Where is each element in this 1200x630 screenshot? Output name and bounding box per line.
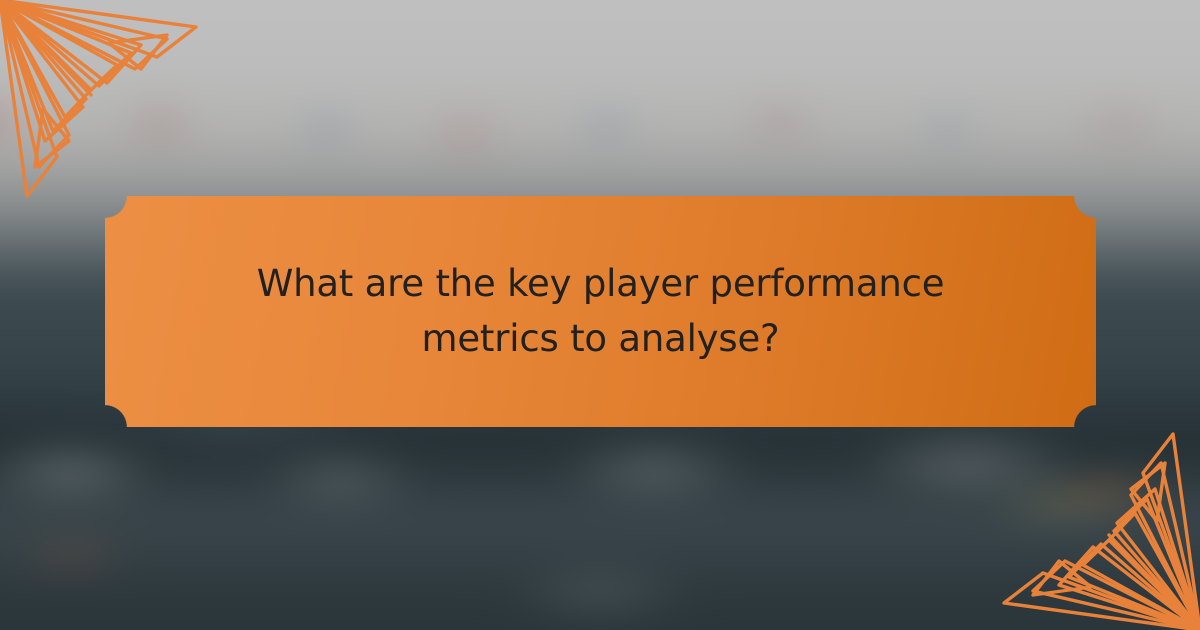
- question-text: What are the key player performance metr…: [191, 257, 1011, 366]
- question-banner: What are the key player performance metr…: [105, 196, 1096, 427]
- question-card-canvas: What are the key player performance metr…: [0, 0, 1200, 630]
